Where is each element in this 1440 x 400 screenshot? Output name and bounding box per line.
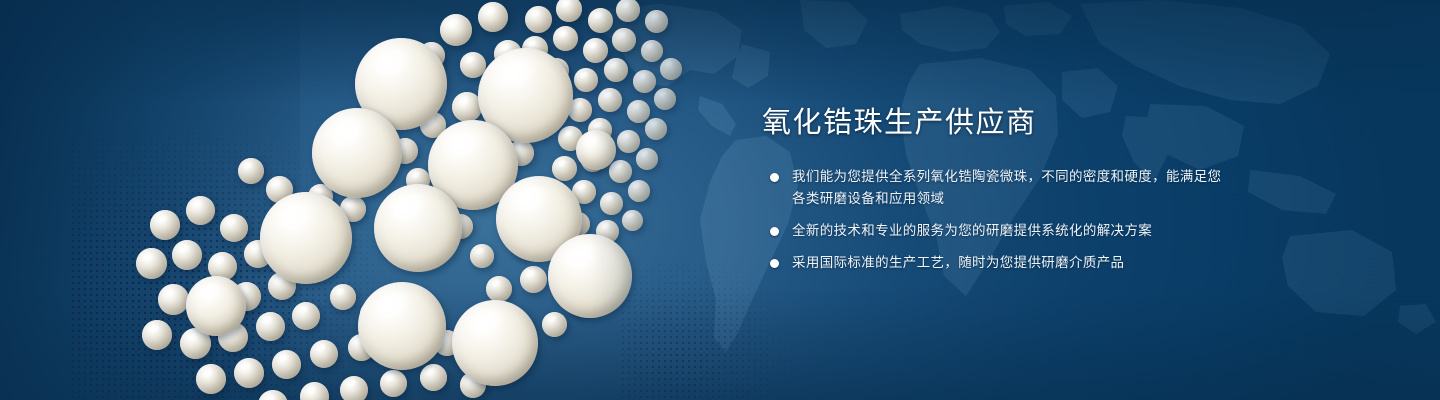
- bullet-dot-icon: [770, 259, 779, 268]
- list-item-label: 全新的技术和专业的服务为您的研磨提供系统化的解决方案: [792, 223, 1152, 238]
- list-item: 全新的技术和专业的服务为您的研磨提供系统化的解决方案: [762, 220, 1222, 242]
- hero-banner: 氧化锆珠生产供应商 我们能为您提供全系列氧化锆陶瓷微珠，不同的密度和硬度，能满足…: [0, 0, 1440, 400]
- banner-copy: 氧化锆珠生产供应商 我们能为您提供全系列氧化锆陶瓷微珠，不同的密度和硬度，能满足…: [762, 106, 1222, 274]
- list-item: 我们能为您提供全系列氧化锆陶瓷微珠，不同的密度和硬度，能满足您各类研磨设备和应用…: [762, 166, 1222, 210]
- bullet-dot-icon: [770, 227, 779, 236]
- bullet-dot-icon: [770, 173, 779, 182]
- page-title: 氧化锆珠生产供应商: [762, 106, 1222, 140]
- feature-list: 我们能为您提供全系列氧化锆陶瓷微珠，不同的密度和硬度，能满足您各类研磨设备和应用…: [762, 166, 1222, 274]
- zirconia-beads-photo: [0, 0, 800, 400]
- list-item-label: 我们能为您提供全系列氧化锆陶瓷微珠，不同的密度和硬度，能满足您各类研磨设备和应用…: [792, 169, 1221, 206]
- list-item: 采用国际标准的生产工艺，随时为您提供研磨介质产品: [762, 252, 1222, 274]
- list-item-label: 采用国际标准的生产工艺，随时为您提供研磨介质产品: [792, 255, 1124, 270]
